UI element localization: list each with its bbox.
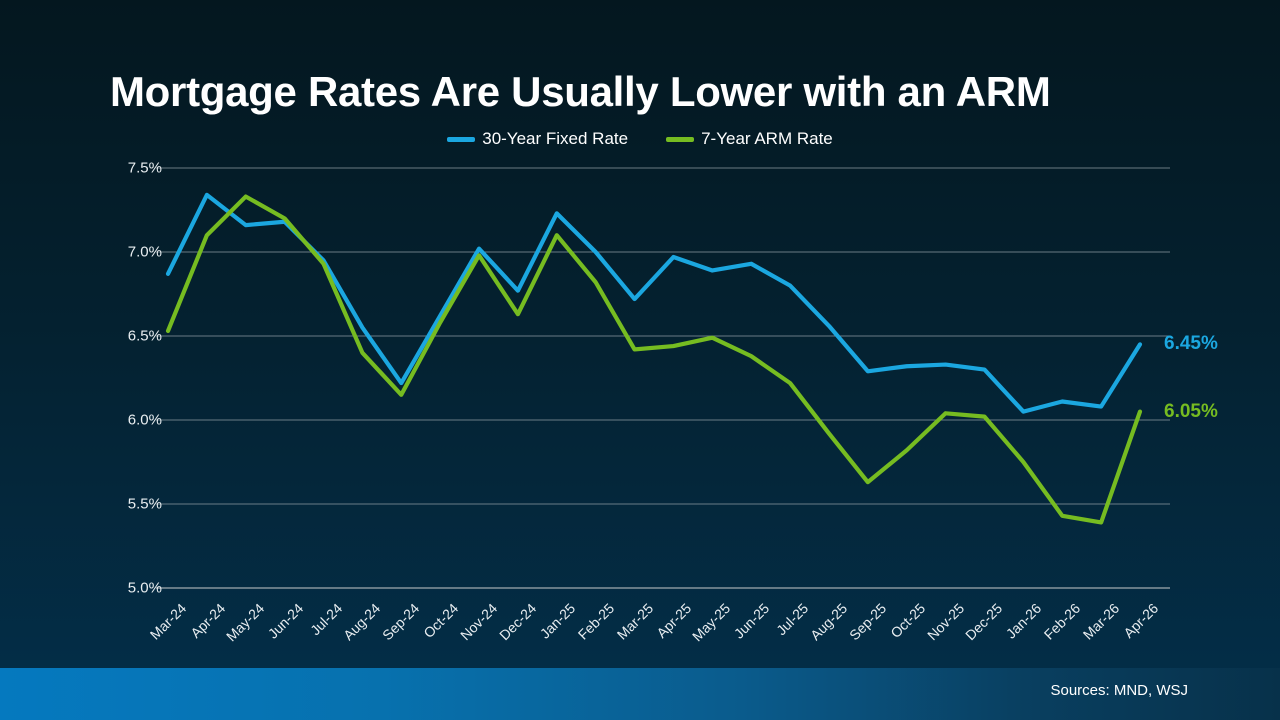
footer-bar: Sources: MND, WSJ [0,668,1280,720]
chart-slide: Mortgage Rates Are Usually Lower with an… [0,0,1280,720]
x-axis-labels: Mar-24Apr-24May-24Jun-24Jul-24Aug-24Sep-… [0,0,1280,720]
sources-text: Sources: MND, WSJ [1050,682,1188,699]
end-label-arm-rate: 6.05% [1164,401,1218,423]
end-label-fixed-rate: 6.45% [1164,333,1218,355]
